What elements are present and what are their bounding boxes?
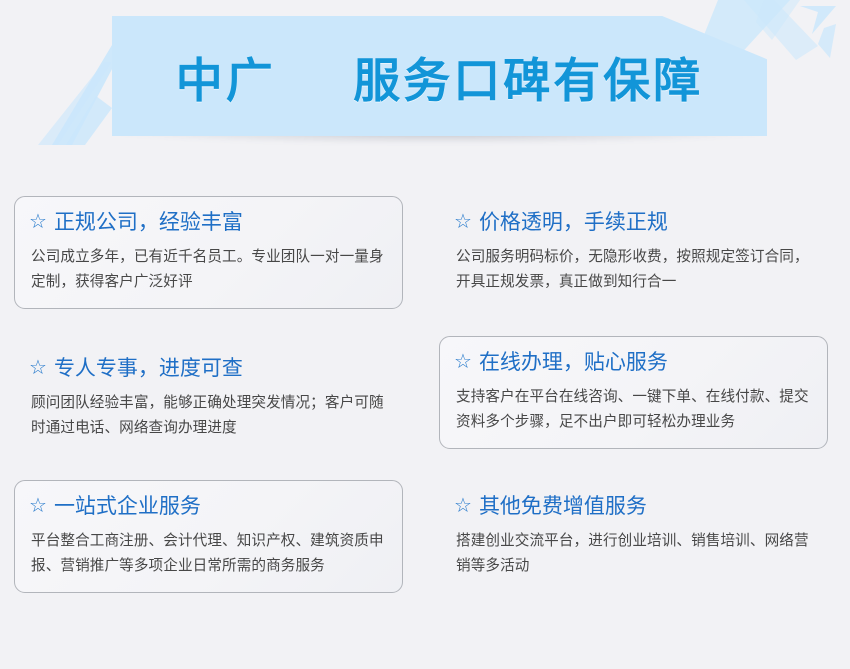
star-outline-icon: ☆	[29, 493, 47, 519]
feature-card-body: ☆ 一站式企业服务 平台整合工商注册、会计代理、知识产权、建筑资质申报、营销推广…	[14, 480, 403, 593]
feature-card-title: 一站式企业服务	[54, 493, 201, 519]
feature-card: ☆ 在线办理，贴心服务 支持客户在平台在线咨询、一键下单、在线付款、提交资料多个…	[425, 322, 850, 470]
feature-card-grid: ☆ 正规公司，经验丰富 公司成立多年，已有近千名员工。专业团队一对一量身定制，获…	[0, 150, 850, 669]
feature-card-heading: ☆ 正规公司，经验丰富	[29, 209, 384, 235]
feature-card-title: 价格透明，手续正规	[479, 209, 668, 235]
feature-card-title: 正规公司，经验丰富	[54, 209, 243, 235]
feature-card-body: ☆ 正规公司，经验丰富 公司成立多年，已有近千名员工。专业团队一对一量身定制，获…	[14, 196, 403, 309]
feature-card-heading: ☆ 一站式企业服务	[29, 493, 384, 519]
header-banner: 中广 服务口碑有保障	[0, 0, 850, 150]
feature-card-body: ☆ 在线办理，贴心服务 支持客户在平台在线咨询、一键下单、在线付款、提交资料多个…	[439, 336, 828, 449]
feature-card-description: 搭建创业交流平台，进行创业培训、销售培训、网络营销等多活动	[454, 529, 809, 578]
star-outline-icon: ☆	[454, 349, 472, 375]
feature-card-body: ☆ 价格透明，手续正规 公司服务明码标价，无隐形收费，按照规定签订合同，开具正规…	[439, 196, 828, 309]
star-outline-icon: ☆	[454, 209, 472, 235]
feature-card: ☆ 专人专事，进度可查 顾问团队经验丰富，能够正确处理突发情况；客户可随时通过电…	[0, 322, 425, 470]
feature-card-description: 支持客户在平台在线咨询、一键下单、在线付款、提交资料多个步骤，足不出户即可轻松办…	[454, 385, 809, 434]
page-title: 中广 服务口碑有保障	[112, 16, 767, 136]
feature-card-description: 顾问团队经验丰富，能够正确处理突发情况；客户可随时通过电话、网络查询办理进度	[29, 391, 384, 440]
feature-card-heading: ☆ 价格透明，手续正规	[454, 209, 809, 235]
feature-card-heading: ☆ 其他免费增值服务	[454, 493, 809, 519]
feature-card-description: 平台整合工商注册、会计代理、知识产权、建筑资质申报、营销推广等多项企业日常所需的…	[29, 529, 384, 578]
feature-card: ☆ 价格透明，手续正规 公司服务明码标价，无隐形收费，按照规定签订合同，开具正规…	[425, 150, 850, 322]
feature-card-title: 专人专事，进度可查	[54, 355, 243, 381]
feature-card-title: 在线办理，贴心服务	[479, 349, 668, 375]
feature-card-heading: ☆ 专人专事，进度可查	[29, 355, 384, 381]
star-outline-icon: ☆	[29, 209, 47, 235]
star-outline-icon: ☆	[454, 493, 472, 519]
feature-card-heading: ☆ 在线办理，贴心服务	[454, 349, 809, 375]
feature-card-description: 公司服务明码标价，无隐形收费，按照规定签订合同，开具正规发票，真正做到知行合一	[454, 245, 809, 294]
feature-card-body: ☆ 其他免费增值服务 搭建创业交流平台，进行创业培训、销售培训、网络营销等多活动	[439, 480, 828, 593]
feature-card-description: 公司成立多年，已有近千名员工。专业团队一对一量身定制，获得客户广泛好评	[29, 245, 384, 294]
feature-card: ☆ 正规公司，经验丰富 公司成立多年，已有近千名员工。专业团队一对一量身定制，获…	[0, 150, 425, 322]
feature-card: ☆ 其他免费增值服务 搭建创业交流平台，进行创业培训、销售培训、网络营销等多活动	[425, 470, 850, 630]
star-outline-icon: ☆	[29, 355, 47, 381]
feature-card-title: 其他免费增值服务	[479, 493, 647, 519]
feature-card: ☆ 一站式企业服务 平台整合工商注册、会计代理、知识产权、建筑资质申报、营销推广…	[0, 470, 425, 630]
feature-card-body: ☆ 专人专事，进度可查 顾问团队经验丰富，能够正确处理突发情况；客户可随时通过电…	[14, 342, 403, 455]
